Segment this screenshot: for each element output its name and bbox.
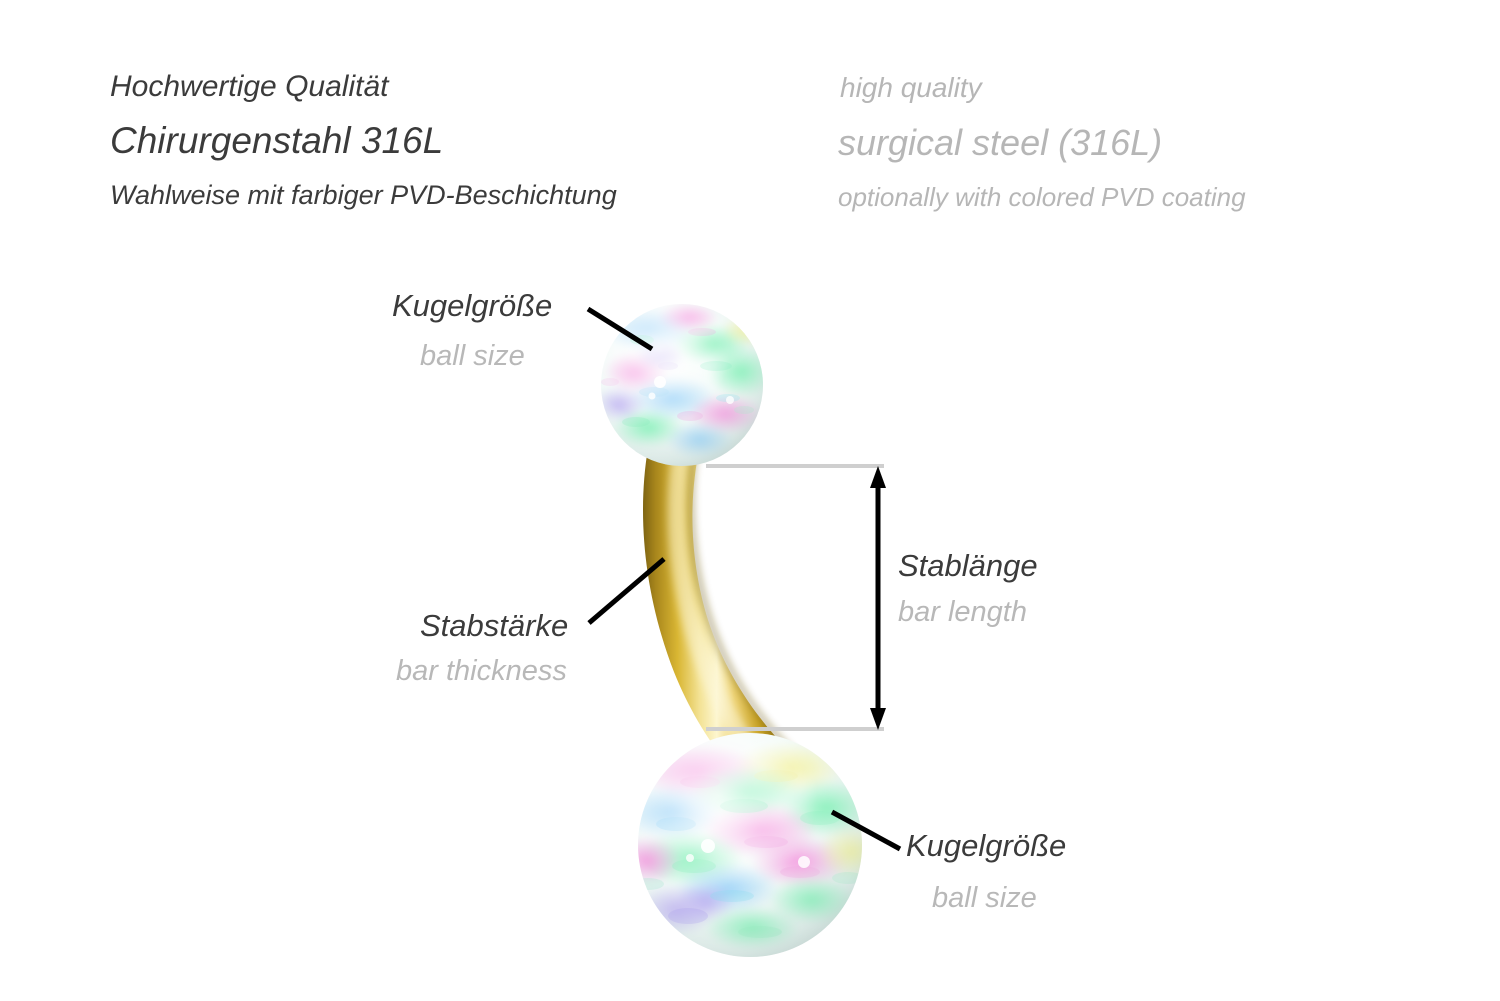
callout-bar-thickness-german: Stabstärke	[420, 608, 568, 644]
callout-ball-bottom-english: ball size	[932, 882, 1037, 915]
callout-bar-length-english: bar length	[898, 596, 1027, 629]
callout-bar-length-german: Stablänge	[898, 548, 1038, 584]
callout-ball-bottom-german: Kugelgröße	[906, 828, 1066, 864]
illustration-canvas: Hochwertige Qualität Chirurgenstahl 316L…	[0, 0, 1500, 1001]
product-illustration	[0, 0, 1500, 1001]
callout-ball-top-english: ball size	[420, 340, 525, 373]
callout-ball-top-german: Kugelgröße	[392, 288, 552, 324]
opal-ball-bottom	[614, 733, 886, 957]
bar-length-dimension-arrow	[870, 466, 886, 730]
callout-bar-thickness-english: bar thickness	[396, 655, 567, 688]
